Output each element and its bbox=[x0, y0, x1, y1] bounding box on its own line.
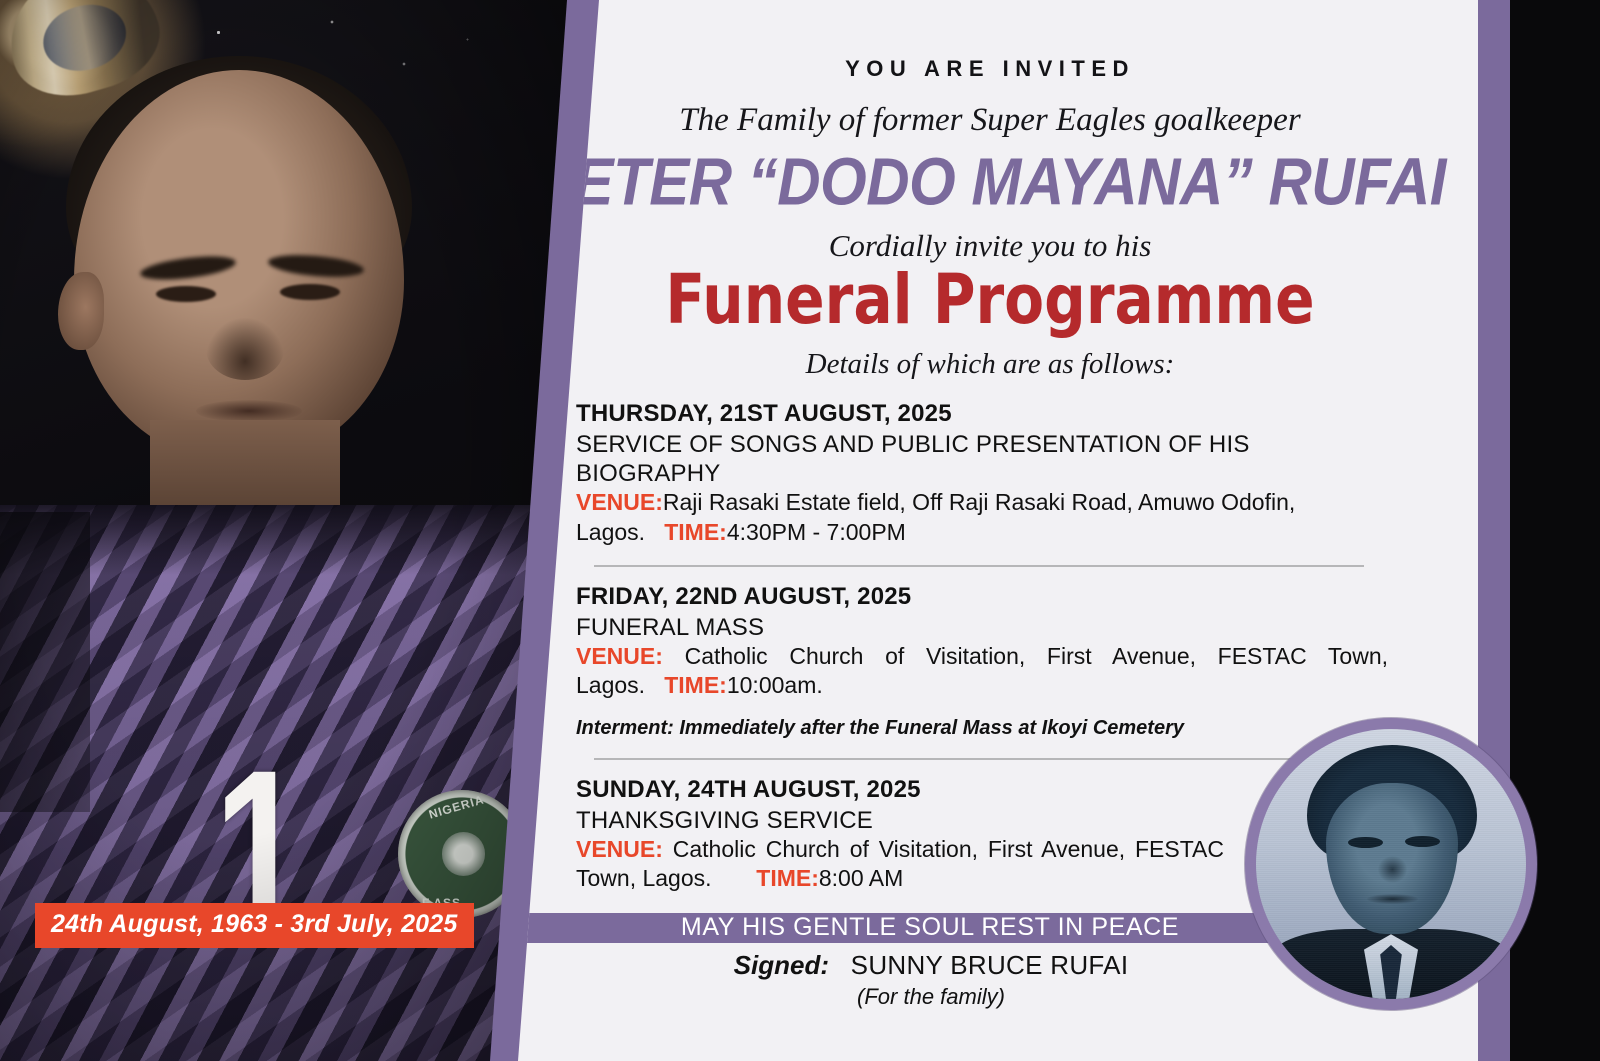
portrait-grain bbox=[1256, 729, 1526, 999]
family-line: The Family of former Super Eagles goalke… bbox=[470, 102, 1510, 139]
photo-eye-left bbox=[156, 286, 216, 302]
event-title: FUNERAL MASS bbox=[576, 613, 1388, 642]
photo-nose bbox=[206, 318, 284, 380]
invited-heading: YOU ARE INVITED bbox=[470, 56, 1510, 82]
life-dates-banner: 24th August, 1963 - 3rd July, 2025 bbox=[35, 903, 474, 948]
event-separator bbox=[594, 758, 1364, 760]
event-venue-line: VENUE:Raji Rasaki Estate field, Off Raji… bbox=[576, 488, 1388, 547]
photo-eye-right bbox=[280, 284, 340, 300]
time-value: 10:00am. bbox=[727, 672, 823, 698]
time-value: 4:30PM - 7:00PM bbox=[727, 519, 906, 545]
signer-name: SUNNY BRUCE RUFAI bbox=[851, 950, 1129, 980]
time-label: TIME: bbox=[756, 865, 819, 891]
event-separator bbox=[594, 565, 1364, 567]
goalkeeper-photo: 1 NIGERIA F.ASS 24th August, 1963 - 3rd … bbox=[0, 0, 575, 1061]
deceased-name: PETER “DODO MAYANA” RUFAI bbox=[470, 143, 1510, 220]
venue-label: VENUE: bbox=[576, 489, 663, 515]
photo-shoulder-shadow bbox=[0, 512, 90, 812]
time-value: 8:00 AM bbox=[819, 865, 903, 891]
cordially-line: Cordially invite you to his bbox=[470, 228, 1510, 264]
venue-label: VENUE: bbox=[576, 643, 663, 669]
crest-text: NIGERIA F.ASS bbox=[406, 800, 518, 912]
event-venue-line: VENUE: Catholic Church of Visitation, Fi… bbox=[576, 835, 1224, 894]
event-venue-line: VENUE: Catholic Church of Visitation, Fi… bbox=[576, 642, 1388, 701]
event-item: THURSDAY, 21ST AUGUST, 2025 SERVICE OF S… bbox=[576, 400, 1388, 567]
event-date: THURSDAY, 21ST AUGUST, 2025 bbox=[576, 400, 1388, 428]
photo-ear bbox=[58, 272, 104, 350]
portrait-photo bbox=[1256, 729, 1526, 999]
signed-label: Signed: bbox=[734, 950, 829, 980]
portrait-medallion bbox=[1245, 718, 1537, 1010]
details-intro: Details of which are as follows: bbox=[470, 348, 1510, 381]
venue-label: VENUE: bbox=[576, 836, 663, 862]
event-date: FRIDAY, 22ND AUGUST, 2025 bbox=[576, 583, 1388, 611]
invitation-card: 1 NIGERIA F.ASS 24th August, 1963 - 3rd … bbox=[0, 0, 1600, 1061]
event-title: SERVICE OF SONGS AND PUBLIC PRESENTATION… bbox=[576, 430, 1388, 488]
time-label: TIME: bbox=[664, 672, 727, 698]
programme-title: Funeral Programme bbox=[486, 260, 1495, 340]
time-label: TIME: bbox=[664, 519, 727, 545]
photo-mouth bbox=[196, 400, 302, 422]
